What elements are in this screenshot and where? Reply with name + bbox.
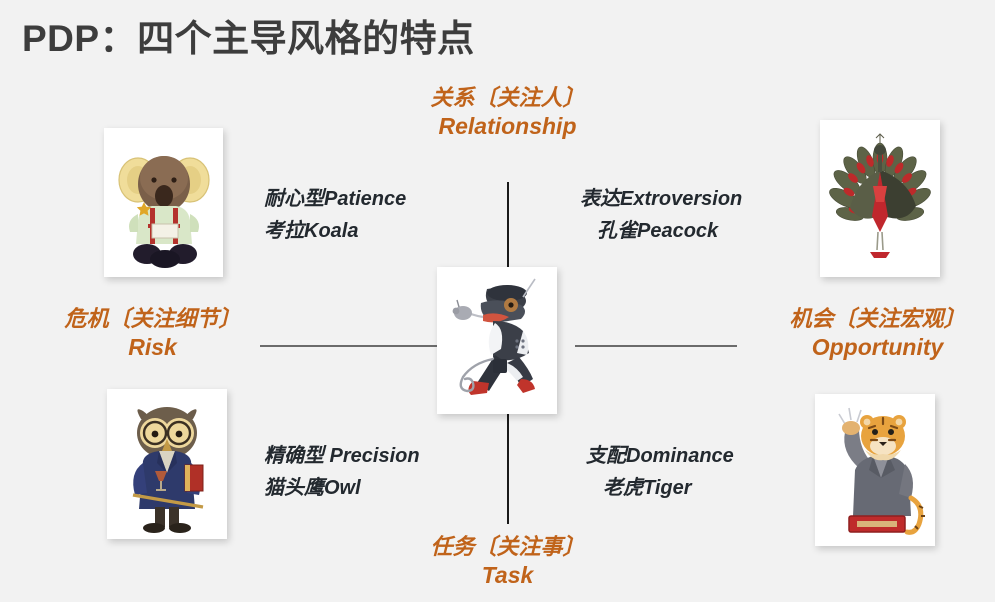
tiger-image-card [815, 394, 935, 546]
quadrant-trait-tiger: 支配Dominance [586, 440, 734, 472]
peacock-illustration [820, 120, 940, 277]
task-axis-label-en: Task [385, 561, 630, 590]
quadrant-text-peacock: 表达Extroversion 孔雀Peacock [580, 183, 742, 248]
tiger-illustration [815, 394, 935, 546]
quadrant-text-tiger: 支配Dominance 老虎Tiger [586, 440, 734, 505]
peacock-image-card [820, 120, 940, 277]
axis-line-vertical-bottom [507, 414, 509, 524]
relationship-axis-label: 关系〔关注人〕 Relationship [385, 84, 630, 142]
quadrant-animal-owl: 猫头鹰Owl [264, 472, 420, 504]
owl-image-card [107, 389, 227, 539]
quadrant-text-owl: 精确型 Precision 猫头鹰Owl [264, 440, 420, 505]
chameleon-illustration [437, 267, 557, 414]
risk-axis-label-en: Risk [40, 333, 265, 362]
center-image-card [437, 267, 557, 414]
quadrant-text-koala: 耐心型Patience 考拉Koala [264, 183, 406, 248]
axis-line-vertical-top [507, 182, 509, 267]
koala-illustration [104, 128, 223, 277]
task-axis-label-cn: 任务〔关注事〕 [385, 533, 630, 561]
quadrant-trait-peacock: 表达Extroversion [580, 183, 742, 215]
quadrant-animal-tiger: 老虎Tiger [586, 472, 734, 504]
opportunity-axis-label-en: Opportunity [760, 333, 995, 362]
koala-image-card [104, 128, 223, 277]
risk-axis-label: 危机〔关注细节〕 Risk [40, 305, 265, 363]
slide-canvas: PDP：四个主导风格的特点 关系〔关注人〕 Relationship 任务〔关注… [0, 0, 995, 602]
axis-line-horizontal-left [260, 345, 438, 347]
opportunity-axis-label: 机会〔关注宏观〕 Opportunity [760, 305, 995, 363]
risk-axis-label-cn: 危机〔关注细节〕 [40, 305, 265, 333]
relationship-axis-label-en: Relationship [385, 112, 630, 141]
quadrant-animal-koala: 考拉Koala [264, 215, 406, 247]
relationship-axis-label-cn: 关系〔关注人〕 [385, 84, 630, 112]
axis-line-horizontal-right [575, 345, 737, 347]
quadrant-animal-peacock: 孔雀Peacock [580, 215, 742, 247]
task-axis-label: 任务〔关注事〕 Task [385, 533, 630, 591]
quadrant-trait-owl: 精确型 Precision [264, 440, 420, 472]
opportunity-axis-label-cn: 机会〔关注宏观〕 [760, 305, 995, 333]
quadrant-trait-koala: 耐心型Patience [264, 183, 406, 215]
owl-illustration [107, 389, 227, 539]
page-title: PDP：四个主导风格的特点 [22, 8, 475, 62]
